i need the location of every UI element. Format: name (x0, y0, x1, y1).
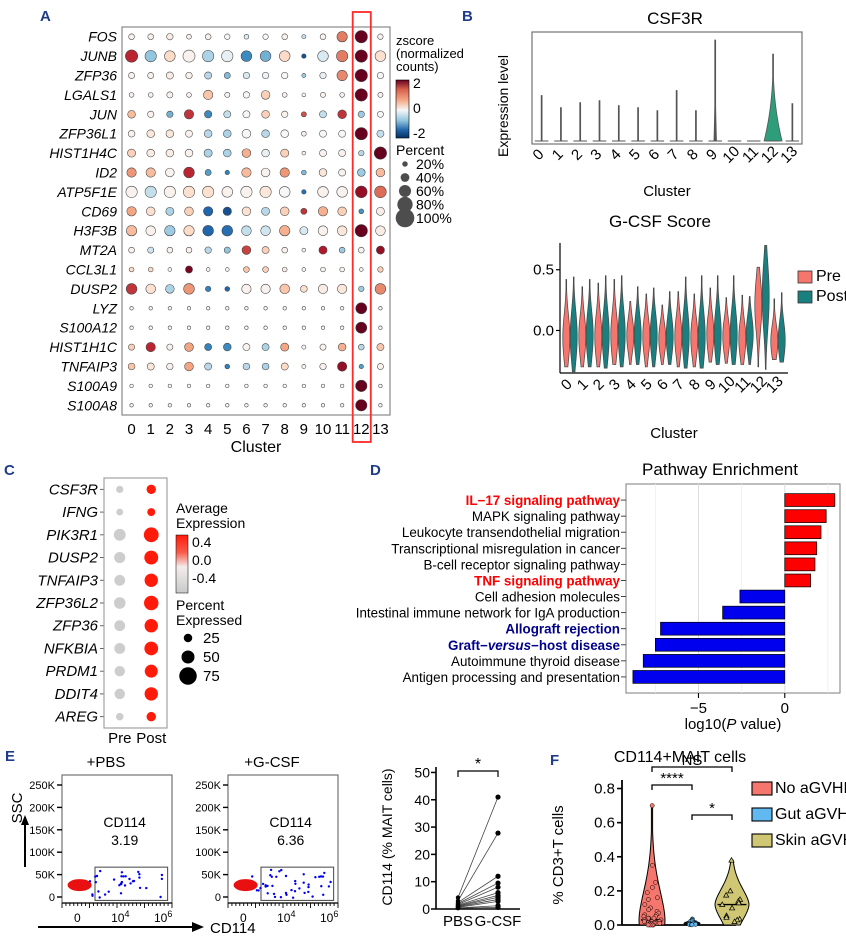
panel-a-xtick: 12 (353, 421, 370, 438)
panel-a-gene-label: HIST1H1C (49, 339, 118, 355)
percent-legend-dot (401, 173, 410, 182)
panel-a-dot (126, 284, 137, 295)
panel-f-ytick: 0.2 (594, 883, 615, 900)
panel-c-dot (114, 643, 125, 654)
panel-a-xtick: 4 (204, 421, 212, 438)
panel-b-bottom-xtick: 5 (638, 376, 656, 394)
panel-d-category-label: Transcriptional misregulation in cancer (391, 541, 620, 556)
panel-b-bottom-xtick: 4 (622, 376, 640, 394)
flow-event-dot (262, 883, 264, 885)
panel-b-top-xtick: 1 (549, 146, 567, 164)
panel-d-bar (661, 622, 785, 635)
flow-event-dot (139, 887, 141, 889)
panel-f-point (653, 880, 657, 884)
panel-a-dot (261, 168, 270, 177)
panel-a-dot (164, 51, 175, 62)
panel-a-gene-label: ZFP36 (74, 68, 117, 84)
panel-f-point (690, 923, 694, 927)
panel-b-bottom-ytick: 0.0 (533, 322, 554, 339)
flow-event-dot (328, 885, 330, 887)
panel-a-gene-label: DUSP2 (70, 281, 117, 297)
panel-f-title: CD114+MAIT cells (614, 749, 746, 766)
gcsf-violin (691, 294, 698, 367)
panel-b-top-ylabel: Expression level (495, 55, 511, 157)
panel-a-gene-label: H3F3B (73, 223, 117, 239)
percent-legend-dot (399, 185, 411, 197)
flow-event-dot (128, 878, 130, 880)
panel-d-bar (723, 606, 785, 619)
panel-c-dot (115, 689, 125, 699)
gcsf-violin (762, 245, 769, 369)
panel-a-dot (130, 326, 134, 330)
gcsf-violin (666, 292, 673, 365)
panel-a-xlabel: Cluster (231, 439, 282, 456)
panel-a-dot (183, 186, 194, 197)
panel-f-point (650, 863, 654, 867)
avgexp-tick-04: 0.4 (192, 534, 212, 550)
gcsf-violin (586, 279, 593, 366)
panel-a-dot (149, 307, 153, 311)
panel-a-dot (377, 363, 383, 369)
panel-a-dot (126, 186, 137, 197)
panel-c-avgexp-title-1: Average (176, 500, 228, 516)
panel-a-dot (337, 284, 346, 293)
panel-a-dot (165, 226, 175, 236)
paired-connector (458, 833, 498, 901)
panel-a-dot (167, 344, 173, 350)
panel-a-dot (187, 92, 192, 97)
gcsf-violin (723, 298, 730, 364)
paired-ytick: 20 (414, 846, 430, 862)
panel-a-dot (128, 110, 136, 118)
panel-a-dot (146, 226, 156, 236)
gcsf-violin (627, 301, 634, 364)
panel-f-legend-label: No aGVHD (775, 780, 846, 797)
panel-a-dot (320, 344, 326, 350)
panel-a-dot (337, 226, 347, 236)
panel-c-dot (114, 620, 125, 631)
paired-ytick: 30 (414, 819, 430, 835)
panel-a-dot (302, 35, 306, 39)
panel-a-dot (205, 286, 210, 291)
panel-a-dot (244, 267, 250, 273)
csf3r-violin (714, 40, 717, 141)
panel-b-bottom-xlabel: Cluster (650, 425, 698, 442)
panel-a-dot (319, 111, 326, 118)
panel-a-dot (225, 286, 230, 291)
panel-a-dot (302, 364, 306, 368)
panel-a-dot (337, 362, 346, 371)
panel-a-dot (262, 72, 268, 78)
panel-c-dot (145, 574, 158, 587)
flow-event-dot (97, 890, 99, 892)
panel-f-violin-scatter: CD114+MAIT cells % CD3+T cells 0.80.60.4… (540, 745, 846, 942)
panel-a-dot (126, 226, 136, 236)
flow-xlabel-cd114: CD114 (210, 920, 256, 937)
panel-a-dot (129, 267, 134, 272)
gcsf-violin (746, 296, 753, 364)
panel-c-pct-legend-dot (179, 667, 197, 685)
panel-a-dot (302, 73, 306, 77)
panel-b-top-xtick: 0 (530, 146, 548, 164)
csf3r-violin (560, 108, 561, 141)
panel-a-dot (242, 149, 251, 158)
panel-a-dot (338, 343, 346, 351)
panel-a-dot (184, 226, 194, 236)
panel-a-dot (205, 72, 212, 79)
flow-event-dot (270, 869, 272, 871)
gcsf-violin (739, 295, 746, 364)
panel-a-gene-label: ZFP36L1 (58, 126, 117, 142)
panel-a-dot (186, 72, 192, 78)
flow-gate-value: 6.36 (277, 832, 304, 848)
panel-a-dot (147, 363, 154, 370)
zscore-colorbar (396, 80, 409, 138)
panel-c-dot (147, 508, 155, 516)
panel-a-dot (359, 150, 364, 155)
panel-a-dot (320, 92, 325, 97)
panel-a-xtick: 0 (127, 421, 135, 438)
panel-a-dot (244, 34, 249, 39)
panel-a-dot (356, 400, 367, 411)
panel-a-dot (222, 225, 233, 236)
paired-point (495, 794, 500, 799)
panel-a-dot (264, 307, 268, 311)
panel-c-dot (145, 619, 158, 632)
flow-event-dot (303, 873, 305, 875)
significance-label: * (475, 756, 481, 773)
panel-a-dot (129, 72, 135, 78)
panel-a-dot (205, 247, 211, 253)
panel-a-dot (261, 226, 271, 236)
panel-a-dot (147, 149, 155, 157)
panel-a-dot (245, 404, 249, 408)
panel-a-dot (204, 111, 211, 118)
panel-a-dot (148, 92, 153, 97)
panel-a-dot (205, 169, 211, 175)
panel-d-bar (655, 638, 784, 651)
flow-event-dot (256, 889, 258, 891)
panel-a-dot (339, 169, 346, 176)
panel-a-xtick: 13 (372, 421, 389, 438)
panel-a-dot (379, 384, 383, 388)
panel-b-bottom-title: G-CSF Score (609, 212, 711, 231)
panel-a-dot (261, 91, 270, 100)
panel-a-dot (129, 92, 134, 97)
panel-a-dot (129, 344, 135, 350)
panel-a-dot (301, 112, 306, 117)
gcsf-violin (643, 294, 650, 367)
panel-d-category-label: Autoimmune thyroid disease (451, 654, 620, 669)
zscore-legend-title-3: counts) (396, 59, 439, 74)
panel-a-dot (168, 307, 172, 311)
panel-d-category-label: B-cell receptor signaling pathway (424, 557, 621, 572)
panel-a-dot (355, 225, 367, 237)
flow-ytick: 250K (29, 780, 55, 792)
flow-event-dot (307, 886, 309, 888)
flow-right-title: +G-CSF (244, 754, 299, 771)
panel-a-dot (206, 268, 210, 272)
panel-a-dot (281, 363, 288, 370)
flow-event-dot (307, 883, 309, 885)
panel-f-point (647, 908, 651, 912)
panel-a-dot (340, 92, 345, 97)
panel-a-dot (147, 130, 155, 138)
panel-a-gene-label: CD69 (81, 203, 117, 219)
panel-a-dot (187, 404, 191, 408)
flow-event-dot (314, 876, 316, 878)
flow-event-dot (303, 892, 305, 894)
gcsf-violin (659, 305, 666, 365)
flow-event-dot (124, 884, 126, 886)
panel-a-dot (375, 186, 387, 198)
panel-a-dot (339, 150, 346, 157)
panel-a-dot (149, 404, 153, 408)
gcsf-violin (579, 287, 586, 367)
panel-b-bottom-xtick: 8 (686, 376, 704, 394)
panel-a-dot (282, 92, 287, 97)
panel-a-gene-label: JUNB (79, 48, 117, 64)
panel-a-dot (128, 363, 135, 370)
panel-a-dot (222, 50, 233, 61)
panel-a-dot (356, 380, 367, 391)
panel-a-dot (318, 226, 328, 236)
panel-a-dot (356, 322, 367, 333)
flow-event-dot (290, 889, 292, 891)
panel-f-ytick: 0.4 (594, 849, 615, 866)
panel-a-dot (245, 326, 249, 330)
panel-a-dot (242, 129, 251, 138)
panel-b-bottom-xtick: 13 (763, 373, 787, 397)
panel-a-dot (263, 34, 268, 39)
panel-a-dot (145, 186, 156, 197)
panel-a-dot (376, 226, 386, 236)
panel-a-dot (337, 70, 347, 80)
panel-a-dot (206, 326, 210, 330)
panel-a-dot (283, 384, 287, 388)
panel-d-category-label: IL−17 signaling pathway (466, 493, 621, 508)
panel-c-gene-label: DUSP2 (48, 550, 99, 567)
paired-connector (458, 797, 498, 897)
panel-a-dot (338, 110, 347, 119)
panel-a-dot (280, 284, 290, 294)
panel-d-category-label: Cell adhesion molecules (475, 590, 620, 605)
panel-a-dot (130, 307, 134, 311)
flow-event-dot (122, 875, 124, 877)
panel-a-dot (148, 34, 154, 40)
panel-a-dot (166, 207, 174, 215)
panel-a-dot (359, 209, 364, 214)
flow-event-dot (120, 892, 122, 894)
panel-a-dot (149, 384, 153, 388)
panel-c-dot (147, 712, 156, 721)
panel-c-gene-label: ZFP36 (52, 618, 99, 635)
flow-xtick: 106 (320, 909, 338, 925)
panel-a-dot (262, 130, 270, 138)
panel-a-dot (355, 128, 367, 140)
panel-a-dot (379, 326, 383, 330)
flow-event-dot (99, 896, 101, 898)
panel-f-point (646, 897, 650, 901)
flow-event-dot (159, 896, 161, 898)
panel-a-dot (264, 384, 268, 388)
panel-b-top-xtick: 7 (665, 146, 683, 164)
percent-legend-dot (396, 209, 415, 228)
panel-a-dot (376, 246, 384, 254)
panel-a-dot (318, 207, 327, 216)
panel-b-gcsf-violin: G-CSF Score 0.50.0 012345678910111213 Cl… (490, 205, 846, 450)
panel-c-dot (144, 596, 158, 610)
panel-a-dot (262, 363, 269, 370)
flow-ytick: 0 (49, 892, 55, 904)
panel-a-dot (148, 267, 153, 272)
gcsf-violin (611, 279, 618, 364)
panel-a-dot (183, 50, 195, 62)
panel-f-ylabel: % CD3+T cells (550, 805, 567, 904)
panel-c-pct-legend-label: 50 (203, 649, 220, 666)
panel-a-dot (206, 384, 210, 388)
panel-a-dot (321, 307, 325, 311)
zscore-tick-0: 0 (413, 100, 421, 116)
panel-a-dot (204, 149, 212, 157)
panel-a-dot (185, 130, 192, 137)
gcsf-violin (618, 276, 625, 367)
flow-event-dot (137, 871, 139, 873)
panel-a-dot (146, 168, 155, 177)
flow-xtick: 104 (277, 909, 295, 925)
panel-a-dot (302, 151, 306, 155)
panel-b-bottom-xtick: 2 (590, 376, 608, 394)
gcsf-violin (675, 292, 682, 367)
panel-c-gene-label: ZFP36L2 (35, 595, 98, 612)
csf3r-violin (638, 108, 639, 141)
panel-a-dot (130, 404, 134, 408)
panel-a-dot (283, 307, 287, 311)
panel-a-xtick: 3 (185, 421, 193, 438)
panel-a-dot (185, 343, 194, 352)
panel-a-dot (318, 51, 329, 62)
flow-ytick: 200K (29, 802, 55, 814)
panel-a-dot (339, 247, 345, 253)
flow-event-dot (274, 896, 276, 898)
flow-event-dot (292, 897, 294, 899)
panel-a-dot (167, 92, 173, 98)
panel-a-dot (129, 34, 135, 40)
panel-a-dot (319, 246, 327, 254)
panel-d-category-label: Antigen processing and presentation (403, 670, 620, 685)
panel-f-legend-swatch (752, 782, 772, 795)
panel-d-xlabel: log10(P value) (685, 716, 782, 733)
paired-xtick: PBS (443, 913, 473, 930)
panel-a-dot (280, 168, 289, 177)
flow-ylabel-ssc: SSC (9, 792, 26, 823)
panel-a-dot (355, 31, 367, 43)
panel-a-dot (300, 227, 308, 235)
panel-c-gene-label: PIK3R1 (46, 527, 98, 544)
panel-c-pct-title-1: Percent (176, 597, 224, 613)
panel-a-dot (281, 149, 289, 157)
flow-event-dot (145, 887, 147, 889)
panel-c-dot (116, 713, 124, 721)
panel-a-dot (281, 72, 287, 78)
panel-a-dot (225, 268, 229, 272)
flow-event-dot (320, 885, 322, 887)
flow-event-dot (273, 893, 275, 895)
panel-b-top-xtick: 8 (684, 146, 702, 164)
panel-a-dot (146, 207, 155, 216)
flow-event-dot (121, 871, 123, 873)
gcsf-legend-label: Post (816, 288, 846, 305)
panel-b-csf3r-violin: CSF3R Expression level 01234567891011121… (490, 6, 846, 206)
panel-c-gene-label: NFKBIA (44, 640, 98, 657)
flow-xtick: 0 (74, 911, 81, 925)
panel-c-gene-label: AREG (54, 709, 98, 726)
flow-density-blob (68, 879, 92, 891)
panel-c-dot (114, 575, 125, 586)
flow-ytick: 150K (29, 825, 55, 837)
panel-a-dot (242, 284, 251, 293)
panel-a-dot (203, 225, 214, 236)
panel-a-dot (374, 147, 386, 159)
panel-a-dot (279, 51, 290, 62)
gcsf-violin (563, 279, 570, 366)
panel-a-dot (204, 130, 212, 138)
panel-a-xtick: 5 (223, 421, 231, 438)
panel-a-dot (203, 207, 212, 216)
panel-a-gene-label: S100A8 (67, 397, 117, 413)
panel-a-dot (224, 72, 230, 78)
panel-c-dot (116, 486, 123, 493)
panel-a-dot (319, 130, 326, 137)
panel-d-category-label: Graft−versus−host disease (448, 638, 620, 653)
panel-b-top-title: CSF3R (647, 9, 703, 28)
panel-d-title: Pathway Enrichment (642, 460, 798, 479)
panel-a-dot (302, 404, 306, 408)
panel-a-dot (264, 326, 268, 330)
panel-a-dot (355, 69, 367, 81)
panel-b-top-xlabel: Cluster (643, 183, 691, 200)
panel-a-dot (262, 149, 270, 157)
panel-b-bottom-xtick: 1 (574, 376, 592, 394)
panel-a-dot (378, 34, 383, 39)
gcsf-violin (595, 283, 602, 367)
flow-event-dot (129, 882, 131, 884)
panel-a-dot (242, 207, 251, 216)
significance-ns-label: NS (682, 752, 703, 769)
panel-a-dot (281, 130, 289, 138)
panel-a-xtick: 11 (334, 421, 350, 438)
panel-a-dot (202, 50, 213, 61)
panel-a-gene-label: LGALS1 (64, 87, 117, 103)
panel-a-dot (340, 404, 344, 408)
panel-a-dot (302, 307, 306, 311)
panel-a-dot (379, 404, 383, 408)
panel-a-dot (166, 130, 174, 138)
panel-a-dot (129, 247, 135, 253)
flow-density-blob (234, 879, 258, 891)
flow-event-dot (294, 883, 296, 885)
panel-a-gene-label: LYZ (93, 300, 118, 316)
panel-a-dot (377, 130, 384, 137)
panel-d-pathway-bar: Pathway Enrichment IL−17 signaling pathw… (290, 455, 846, 745)
flow-event-dot (298, 887, 300, 889)
gcsf-violin (778, 293, 785, 362)
flow-event-dot (95, 881, 97, 883)
panel-b-bottom-xtick: 0 (558, 376, 576, 394)
panel-a-dot (302, 190, 307, 195)
panel-a-dot (226, 307, 230, 311)
panel-a-dot (146, 284, 156, 294)
